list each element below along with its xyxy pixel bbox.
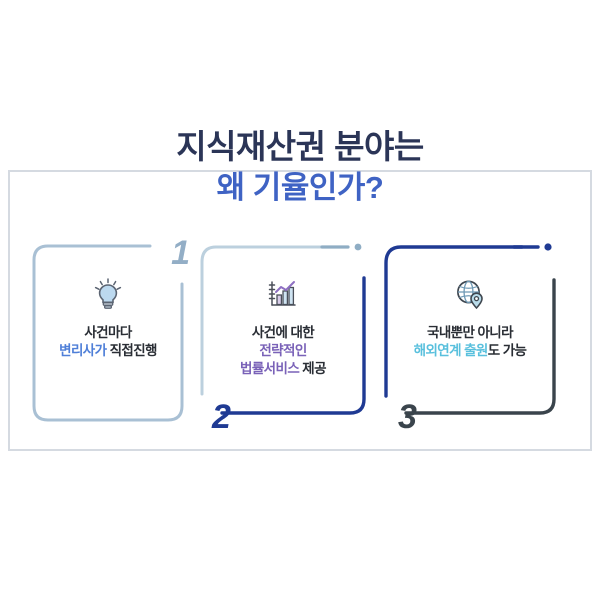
card-1-number: 1 xyxy=(171,236,190,270)
card-3-text: 국내뿐만 아니라 해외연계 출원도 가능 xyxy=(414,324,527,360)
step-card-1[interactable]: 1 사건마다 변리사가 직접진행 xyxy=(32,244,184,422)
card-1-line-2-plain: 직접진행 xyxy=(106,343,156,358)
title-line-1: 지식재산권 분야는 xyxy=(0,128,600,167)
infographic-canvas: 지식재산권 분야는 왜 기율인가? 1 xyxy=(0,0,600,600)
card-2-line-2: 전략적인 xyxy=(240,342,326,360)
card-2-line-3: 법률서비스 제공 xyxy=(240,360,326,378)
card-3-line-2-accent: 해외연계 출원 xyxy=(414,343,488,358)
card-2-line-3-accent: 법률서비스 xyxy=(240,361,299,376)
globe-pin-icon xyxy=(454,277,486,311)
card-3-number: 3 xyxy=(398,400,417,434)
card-2-line-3-plain: 제공 xyxy=(299,361,326,376)
card-3-line-2: 해외연계 출원도 가능 xyxy=(414,342,527,360)
lightbulb-icon xyxy=(93,277,123,311)
card-1-line-2-accent: 변리사가 xyxy=(59,343,106,358)
page-title: 지식재산권 분야는 왜 기율인가? xyxy=(0,128,600,207)
card-1-line-1: 사건마다 xyxy=(59,324,157,342)
card-1-text: 사건마다 변리사가 직접진행 xyxy=(59,324,157,360)
step-card-3[interactable]: 3 국내뿐만 아니라 해외연계 출원도 가능 xyxy=(382,244,558,416)
step-card-2[interactable]: 2 사건 xyxy=(198,244,368,416)
title-line-2: 왜 기율인가? xyxy=(0,169,600,207)
card-3-line-1: 국내뿐만 아니라 xyxy=(414,324,527,342)
card-1-line-2: 변리사가 직접진행 xyxy=(59,342,157,360)
card-2-number: 2 xyxy=(212,400,231,434)
card-2-text: 사건에 대한 전략적인 법률서비스 제공 xyxy=(240,324,326,378)
card-3-line-2-plain: 도 가능 xyxy=(488,343,527,358)
bar-chart-trend-icon xyxy=(268,277,298,311)
card-2-line-1: 사건에 대한 xyxy=(240,324,326,342)
